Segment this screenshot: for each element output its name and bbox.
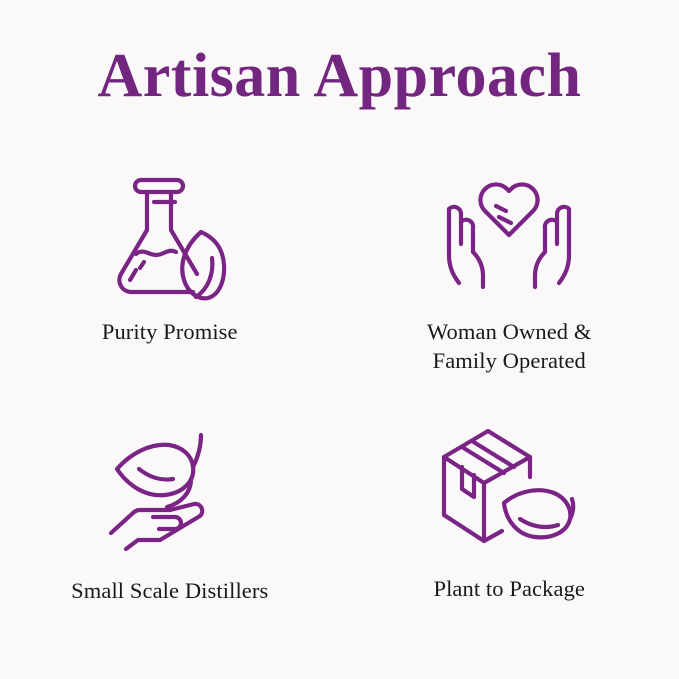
feature-item-woman-owned-family-operated: Woman Owned & Family Operated [340,150,679,405]
hand-holding-leaf-icon [95,423,245,555]
feature-label: Plant to Package [433,575,585,604]
page-title: Artisan Approach [0,44,679,109]
artisan-approach-panel: Artisan Approach [0,0,679,679]
feature-item-small-scale-distillers: Small Scale Distillers [0,405,340,660]
feature-item-plant-to-package: Plant to Package [340,405,679,660]
hands-holding-heart-icon [434,168,584,300]
feature-grid: Purity Promise [0,150,679,660]
feature-label: Small Scale Distillers [71,577,268,606]
flask-with-leaf-icon [95,168,245,300]
feature-label: Purity Promise [102,318,238,347]
feature-label: Woman Owned & Family Operated [427,318,591,376]
box-with-leaf-icon [434,421,584,553]
feature-item-purity-promise: Purity Promise [0,150,340,405]
